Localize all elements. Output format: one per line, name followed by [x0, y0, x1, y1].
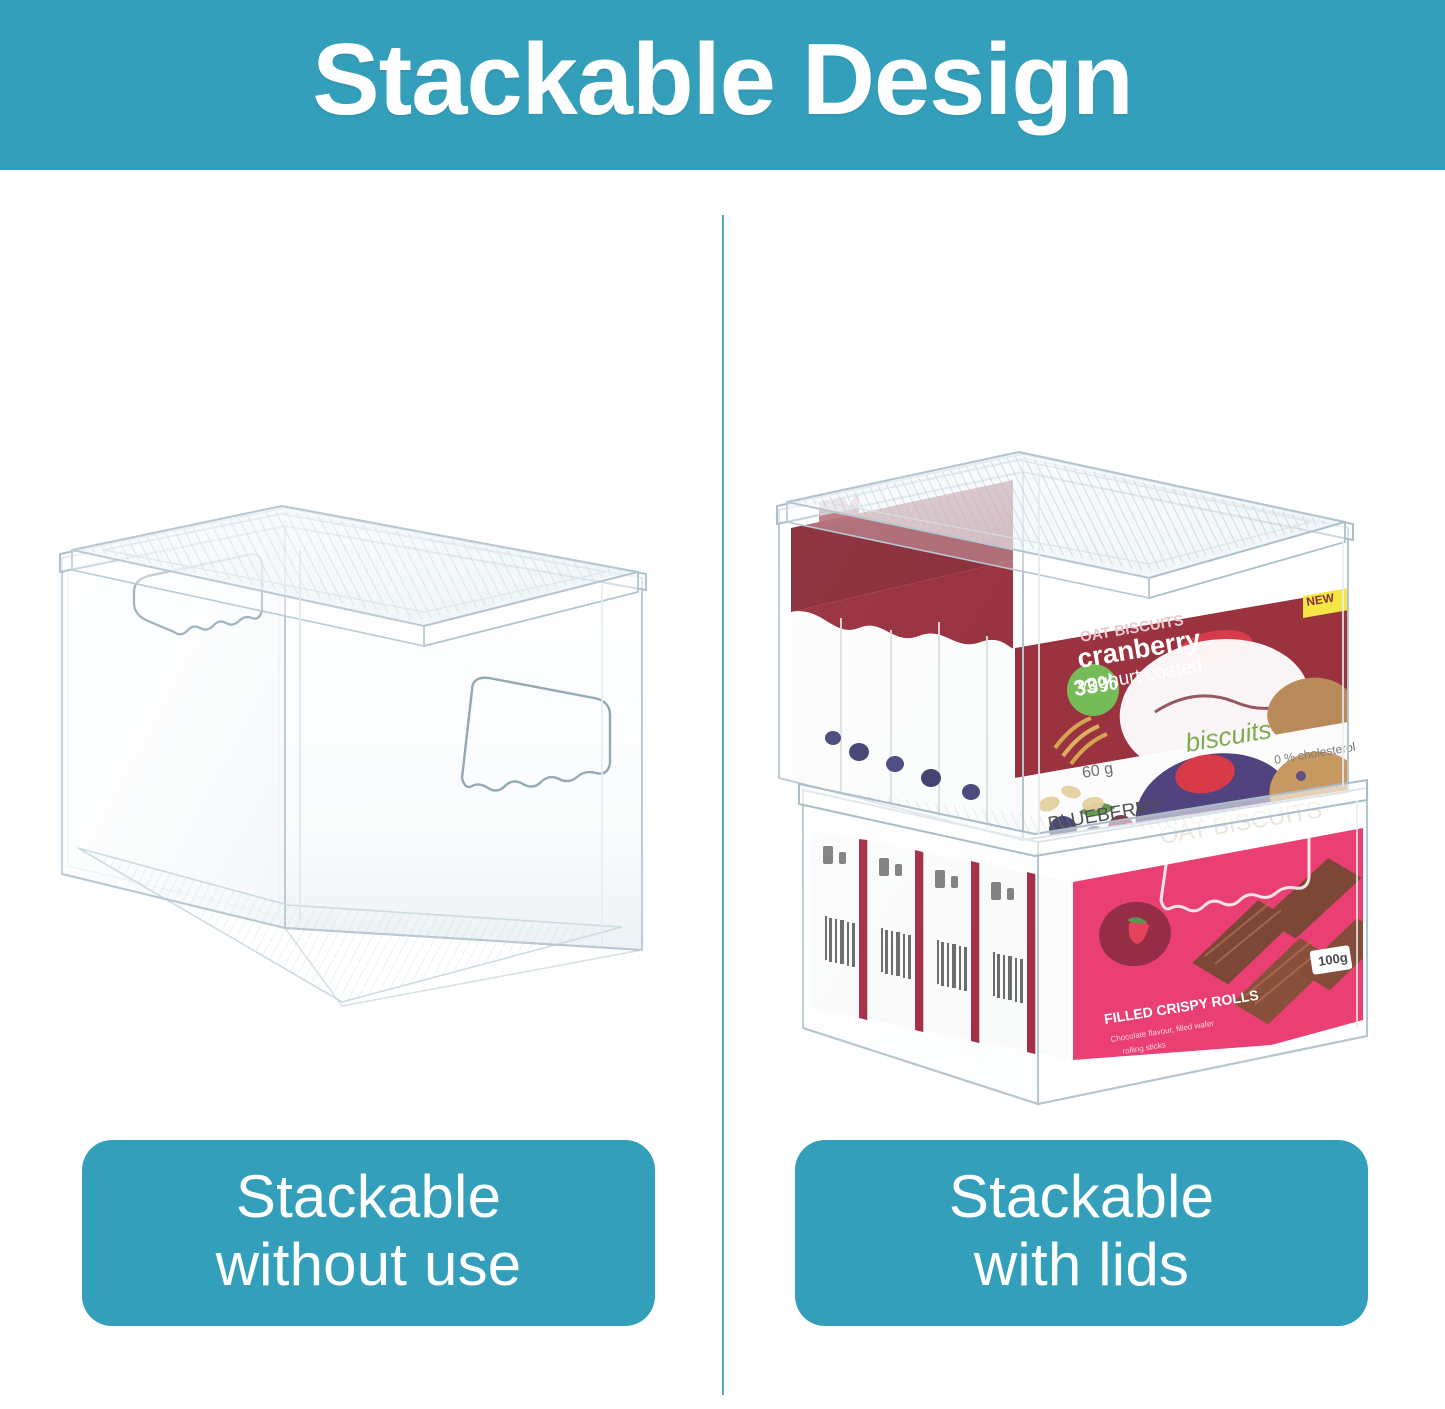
illustration-stacked-bins: OAT BISCUITS cranberry yoghurt coated 33… — [723, 170, 1445, 1130]
panel-stackable-without-use: Stackable without use — [0, 170, 722, 1409]
caption-text: Stackable without use — [216, 1163, 522, 1303]
panel-stackable-with-lids: OAT BISCUITS cranberry yoghurt coated 33… — [723, 170, 1445, 1409]
caption-text: Stackable with lids — [949, 1163, 1214, 1303]
header-banner: Stackable Design — [0, 0, 1445, 170]
bottom-bin: FILLED CRISPY ROLLS Chocolate flavour, f… — [799, 780, 1390, 1104]
illustration-single-bin — [0, 170, 722, 1130]
page-title: Stackable Design — [312, 30, 1132, 141]
caption-stackable-with-lids: Stackable with lids — [795, 1140, 1368, 1326]
single-clear-storage-bin-with-lid-svg — [42, 450, 682, 1050]
two-stacked-clear-storage-bins-with-lids-svg: OAT BISCUITS cranberry yoghurt coated 33… — [763, 360, 1413, 1140]
caption-stackable-without-use: Stackable without use — [82, 1140, 655, 1326]
